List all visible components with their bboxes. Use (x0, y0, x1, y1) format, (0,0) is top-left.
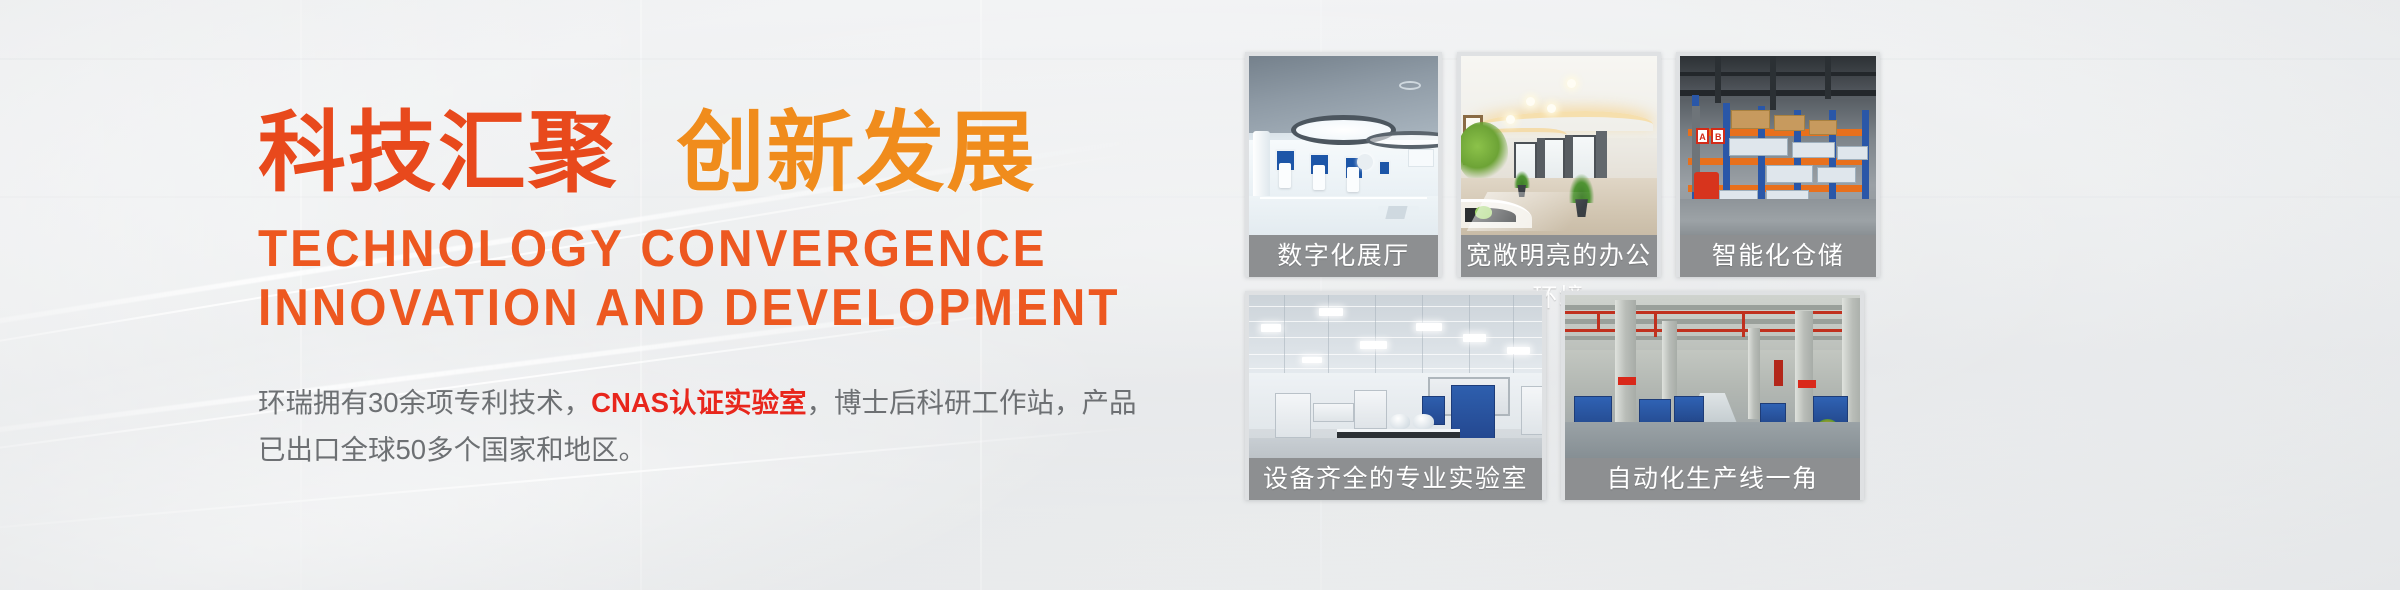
page-title: 科技汇聚 创新发展 (258, 108, 1178, 196)
description-highlight: CNAS认证实验室 (591, 387, 806, 418)
gallery-caption: 宽敞明亮的办公环境 (1461, 235, 1657, 277)
gallery-caption: 自动化生产线一角 (1565, 458, 1860, 500)
gallery-caption: 设备齐全的专业实验室 (1249, 458, 1542, 500)
gallery-caption: 数字化展厅 (1249, 235, 1438, 277)
gallery-card[interactable]: 宽敞明亮的办公环境 (1457, 52, 1661, 277)
showroom-photo (1249, 56, 1438, 235)
gallery-card[interactable]: 设备齐全的专业实验室 (1245, 291, 1546, 500)
warehouse-photo: A B (1680, 56, 1876, 235)
gallery-card[interactable]: A B 智能化仓储 (1676, 52, 1880, 277)
rack-label-b: B (1711, 128, 1725, 144)
banner-description: 环瑞拥有30余项专利技术，CNAS认证实验室，博士后科研工作站，产品已出口全球5… (258, 379, 1163, 474)
subtitle-line-1: TECHNOLOGY CONVERGENCE (258, 220, 1104, 279)
factory-photo (1565, 295, 1860, 458)
facility-photo-gallery: 数字化展厅 (1245, 52, 1880, 500)
promo-banner: 科技汇聚 创新发展 TECHNOLOGY CONVERGENCE INNOVAT… (0, 0, 2400, 590)
gallery-row-top: 数字化展厅 (1245, 52, 1880, 277)
headline-subtitle: TECHNOLOGY CONVERGENCE INNOVATION AND DE… (258, 220, 1104, 339)
laboratory-photo (1249, 295, 1542, 458)
banner-copy: 科技汇聚 创新发展 TECHNOLOGY CONVERGENCE INNOVAT… (258, 108, 1178, 473)
headline-primary: 科技汇聚 (258, 100, 618, 204)
headline-secondary: 创新发展 (677, 100, 1037, 204)
gallery-card[interactable]: 数字化展厅 (1245, 52, 1442, 277)
gallery-row-bottom: 设备齐全的专业实验室 (1245, 291, 1880, 500)
gallery-caption: 智能化仓储 (1680, 235, 1876, 277)
description-text-before: 环瑞拥有30余项专利技术， (258, 387, 591, 418)
gallery-card[interactable]: 自动化生产线一角 (1561, 291, 1864, 500)
rack-label-a: A (1696, 128, 1710, 144)
subtitle-line-2: INNOVATION AND DEVELOPMENT (258, 279, 1104, 338)
office-photo (1461, 56, 1657, 235)
